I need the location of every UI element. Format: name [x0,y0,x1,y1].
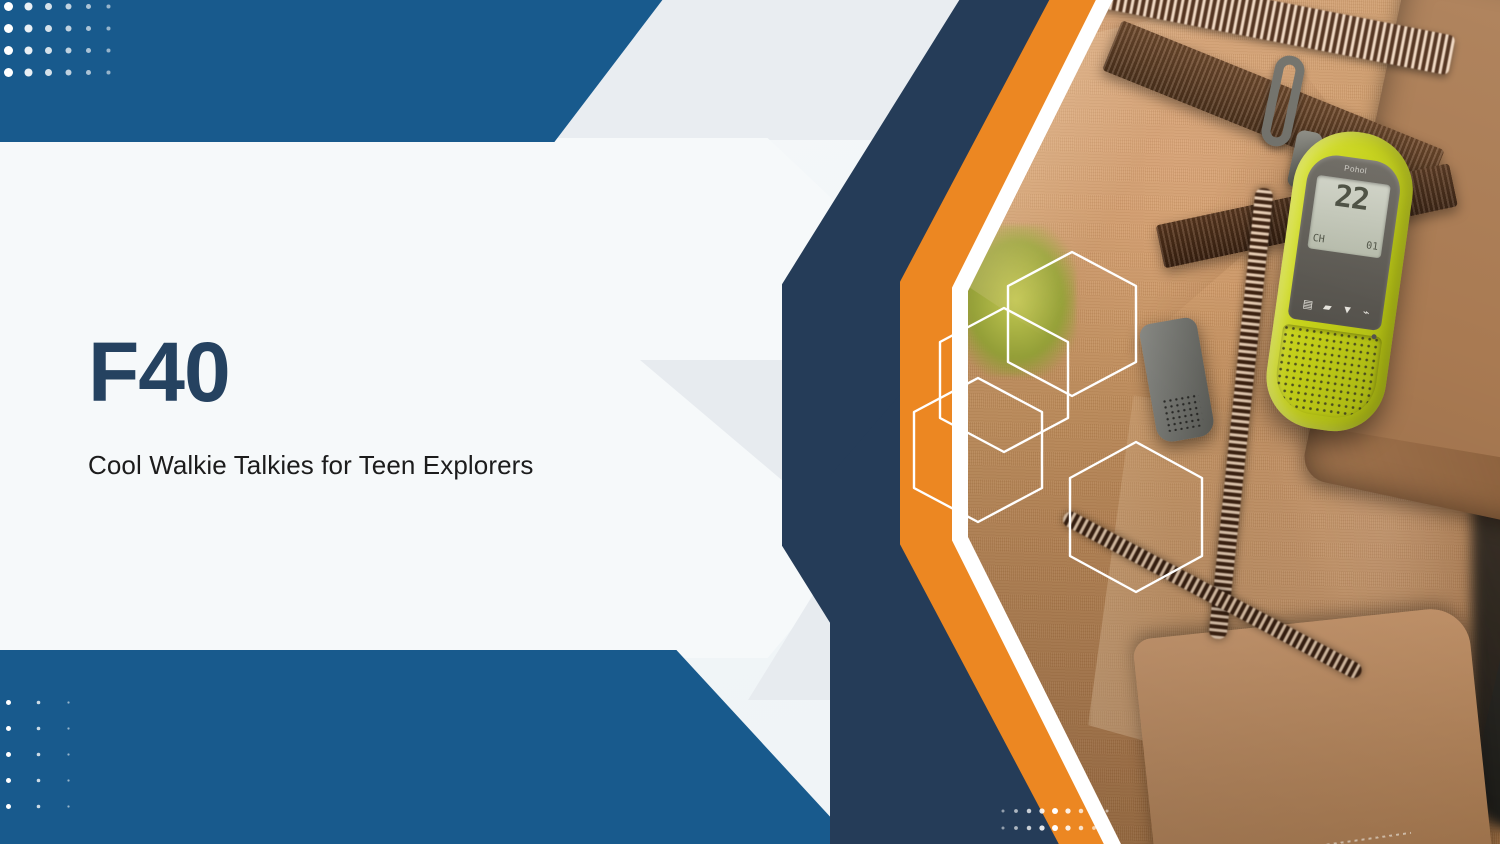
decorative-dot [6,726,11,731]
decorative-dot [1027,826,1032,831]
decorative-dot [106,26,110,30]
decorative-dot [1092,809,1096,813]
decorative-dot [4,24,13,33]
decorative-dot [45,25,52,32]
decorative-dot [67,779,69,781]
decorative-dot [1065,825,1070,830]
page-subtitle: Cool Walkie Talkies for Teen Explorers [88,450,728,481]
decorative-dot [106,48,110,52]
dot-grid-bottom-left [6,700,96,830]
decorative-dot [6,700,11,705]
decorative-dot [86,48,91,53]
decorative-dot [37,701,41,705]
decorative-dot [1079,826,1084,831]
decorative-dot [67,805,69,807]
page-title: F40 [88,330,728,414]
decorative-dot [65,25,71,31]
decorative-dot [1065,808,1070,813]
decorative-dot [45,69,52,76]
decorative-dot [106,4,110,8]
dot-grid-bottom-center [1000,808,1117,842]
decorative-dot [1014,809,1018,813]
decorative-dot [86,70,91,75]
decorative-dot [37,727,41,731]
decorative-dot [67,727,69,729]
decorative-dot [65,47,71,53]
decorative-dot [1079,809,1084,814]
decorative-dot [37,805,41,809]
decorative-dot [4,68,13,77]
decorative-dot [6,752,11,757]
decorative-dot [65,3,71,9]
decorative-dot [86,26,91,31]
decorative-dot [1002,827,1005,830]
decorative-dot [1039,825,1044,830]
decorative-dot [1039,808,1044,813]
decorative-dot [67,701,69,703]
decorative-dot [4,46,13,55]
dot-grid-top-left [4,2,124,90]
decorative-dot [1106,827,1109,830]
decorative-dot [1014,826,1018,830]
decorative-dot [65,69,71,75]
decorative-dot [1052,808,1058,814]
decorative-dot [1106,810,1109,813]
decorative-dot [24,2,32,10]
text-block: F40 Cool Walkie Talkies for Teen Explore… [88,330,728,481]
decorative-dot [6,804,11,809]
decorative-dot [86,4,91,9]
decorative-dot [1002,810,1005,813]
promo-banner: Pohol 22 CH 01 ▤ ▰ ▼ ⌁ [0,0,1500,844]
decorative-dot [37,779,41,783]
decorative-dot [45,3,52,10]
decorative-dot [37,753,41,757]
decorative-dot [24,24,32,32]
decorative-dot [6,778,11,783]
decorative-dot [24,46,32,54]
decorative-dot [4,2,13,11]
decorative-dot [1027,809,1032,814]
decorative-dot [45,47,52,54]
decorative-dot [1092,826,1096,830]
decorative-dot [24,68,32,76]
decorative-dot [1052,825,1058,831]
decorative-dot [106,70,110,74]
decorative-dot [67,753,69,755]
